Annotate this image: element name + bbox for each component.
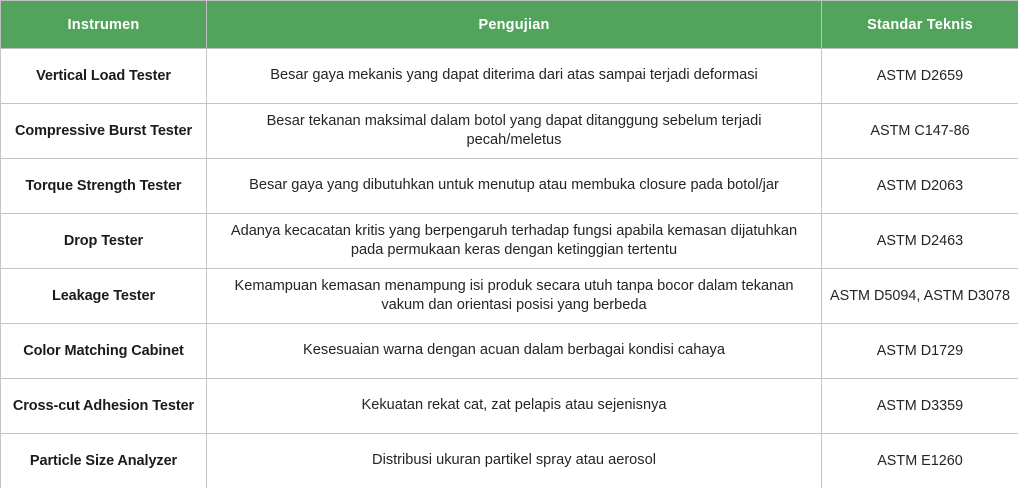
cell-pengujian: Besar gaya yang dibutuhkan untuk menutup… [207,159,822,214]
cell-pengujian: Besar gaya mekanis yang dapat diterima d… [207,49,822,104]
cell-instrumen: Vertical Load Tester [1,49,207,104]
cell-pengujian: Besar tekanan maksimal dalam botol yang … [207,104,822,159]
cell-pengujian: Kesesuaian warna dengan acuan dalam berb… [207,324,822,379]
table-row: Color Matching CabinetKesesuaian warna d… [1,324,1018,379]
cell-pengujian: Kemampuan kemasan menampung isi produk s… [207,269,822,324]
cell-instrumen: Torque Strength Tester [1,159,207,214]
column-header-pengujian: Pengujian [207,1,822,49]
table-row: Torque Strength TesterBesar gaya yang di… [1,159,1018,214]
table-body: Vertical Load TesterBesar gaya mekanis y… [1,49,1018,488]
instrument-testing-table-container: Instrumen Pengujian Standar Teknis Verti… [0,0,1018,488]
column-header-standar-teknis: Standar Teknis [822,1,1018,49]
cell-standar-teknis: ASTM D3359 [822,379,1018,434]
cell-standar-teknis: ASTM C147-86 [822,104,1018,159]
table-header-row: Instrumen Pengujian Standar Teknis [1,1,1018,49]
cell-standar-teknis: ASTM D2463 [822,214,1018,269]
cell-standar-teknis: ASTM D2063 [822,159,1018,214]
instrument-testing-table: Instrumen Pengujian Standar Teknis Verti… [0,0,1018,488]
cell-instrumen: Compressive Burst Tester [1,104,207,159]
cell-instrumen: Color Matching Cabinet [1,324,207,379]
cell-instrumen: Particle Size Analyzer [1,434,207,488]
column-header-instrumen: Instrumen [1,1,207,49]
cell-pengujian: Distribusi ukuran partikel spray atau ae… [207,434,822,488]
table-row: Drop TesterAdanya kecacatan kritis yang … [1,214,1018,269]
cell-standar-teknis: ASTM D5094, ASTM D3078 [822,269,1018,324]
cell-instrumen: Cross-cut Adhesion Tester [1,379,207,434]
table-row: Compressive Burst TesterBesar tekanan ma… [1,104,1018,159]
cell-pengujian: Kekuatan rekat cat, zat pelapis atau sej… [207,379,822,434]
cell-instrumen: Leakage Tester [1,269,207,324]
cell-standar-teknis: ASTM E1260 [822,434,1018,488]
table-row: Cross-cut Adhesion TesterKekuatan rekat … [1,379,1018,434]
table-row: Particle Size AnalyzerDistribusi ukuran … [1,434,1018,488]
cell-instrumen: Drop Tester [1,214,207,269]
table-row: Leakage TesterKemampuan kemasan menampun… [1,269,1018,324]
cell-standar-teknis: ASTM D1729 [822,324,1018,379]
table-header: Instrumen Pengujian Standar Teknis [1,1,1018,49]
cell-pengujian: Adanya kecacatan kritis yang berpengaruh… [207,214,822,269]
table-row: Vertical Load TesterBesar gaya mekanis y… [1,49,1018,104]
cell-standar-teknis: ASTM D2659 [822,49,1018,104]
